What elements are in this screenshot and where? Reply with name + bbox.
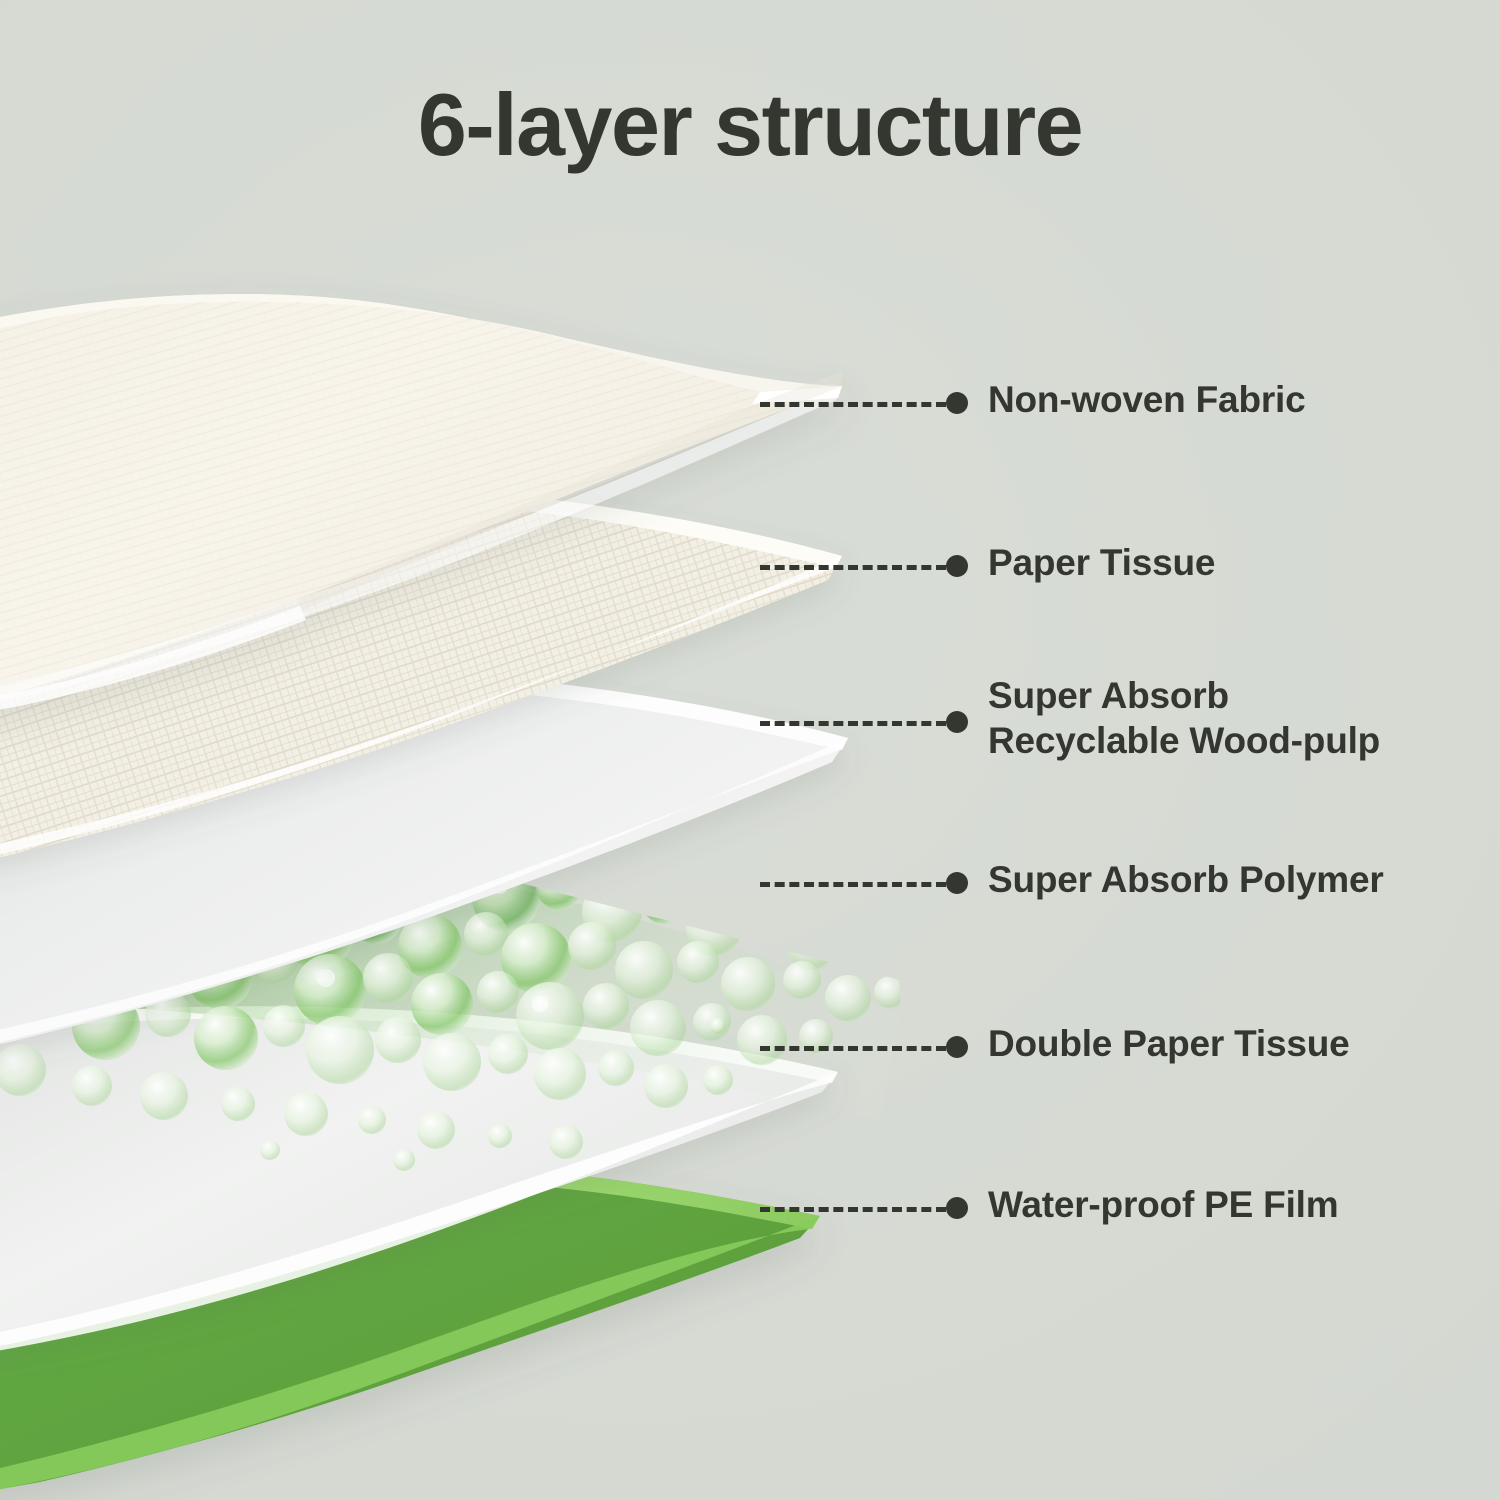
leader-line	[760, 402, 946, 407]
callout-label-wood-pulp: Super AbsorbRecyclable Wood-pulp	[988, 673, 1380, 763]
callout-label-double-paper-tissue: Double Paper Tissue	[988, 1021, 1350, 1066]
leader-line	[760, 1207, 946, 1212]
leader-dot-icon	[946, 555, 968, 577]
leader-line	[760, 565, 946, 570]
leader-dot-icon	[946, 711, 968, 733]
callout-label-non-woven-fabric: Non-woven Fabric	[988, 377, 1306, 422]
leader-dot-icon	[946, 872, 968, 894]
layer-structure-infographic: 6-layer structure	[0, 0, 1500, 1500]
callout-label-line-2: Recyclable Wood-pulp	[988, 720, 1380, 761]
leader-dot-icon	[946, 1036, 968, 1058]
leader-dot-icon	[946, 392, 968, 414]
callout-label-polymer: Super Absorb Polymer	[988, 857, 1384, 902]
callout-label-paper-tissue: Paper Tissue	[988, 540, 1215, 585]
callout-label-line-1: Super Absorb	[988, 675, 1229, 716]
leader-line	[760, 1046, 946, 1051]
leader-line	[760, 721, 946, 726]
leader-line	[760, 882, 946, 887]
leader-dot-icon	[946, 1197, 968, 1219]
callout-label-pe-film: Water-proof PE Film	[988, 1182, 1338, 1227]
